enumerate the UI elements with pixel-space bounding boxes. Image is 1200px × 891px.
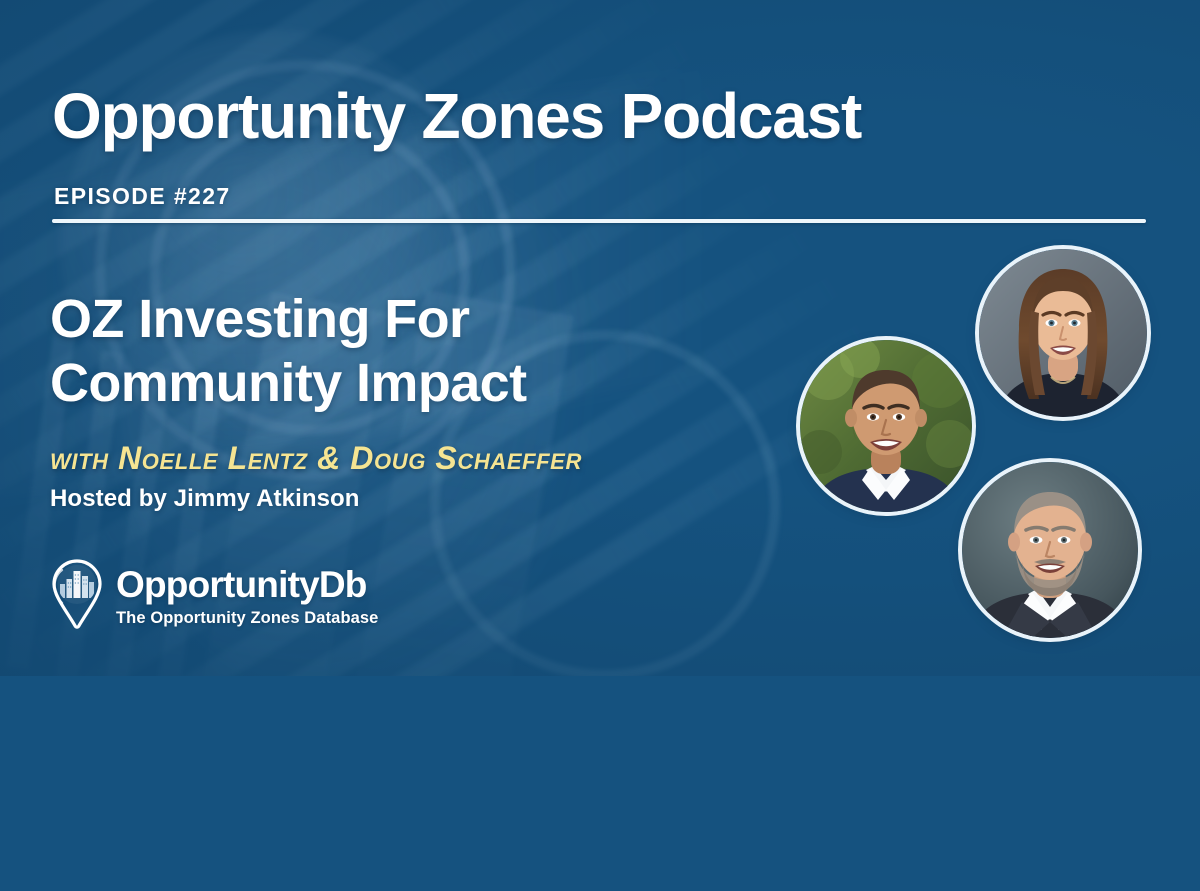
map-pin-buildings-icon xyxy=(48,558,106,630)
logo-tagline: The Opportunity Zones Database xyxy=(116,610,378,627)
episode-title-line-1: OZ Investing For xyxy=(50,288,750,352)
podcast-cover-image: Opportunity Zones Podcast EPISODE #227 O… xyxy=(0,0,1200,891)
lower-solid-fill xyxy=(0,676,1200,891)
episode-number-label: EPISODE #227 xyxy=(54,183,231,210)
speaker-photo-woman xyxy=(979,249,1147,417)
header-divider-rule xyxy=(52,219,1146,223)
guests-line: with Noelle Lentz & Doug Schaeffer xyxy=(50,440,582,477)
episode-title: OZ Investing For Community Impact xyxy=(50,288,750,415)
speaker-photo-man-right xyxy=(962,462,1138,638)
speaker-photo-man-left xyxy=(800,340,972,512)
logo-name: OpportunityDb xyxy=(116,566,378,603)
opportunitydb-logo[interactable]: OpportunityDb The Opportunity Zones Data… xyxy=(48,558,378,630)
episode-title-line-2: Community Impact xyxy=(50,352,750,416)
logo-wordmark: OpportunityDb The Opportunity Zones Data… xyxy=(116,562,378,627)
host-line: Hosted by Jimmy Atkinson xyxy=(50,485,360,513)
show-title: Opportunity Zones Podcast xyxy=(52,84,861,148)
